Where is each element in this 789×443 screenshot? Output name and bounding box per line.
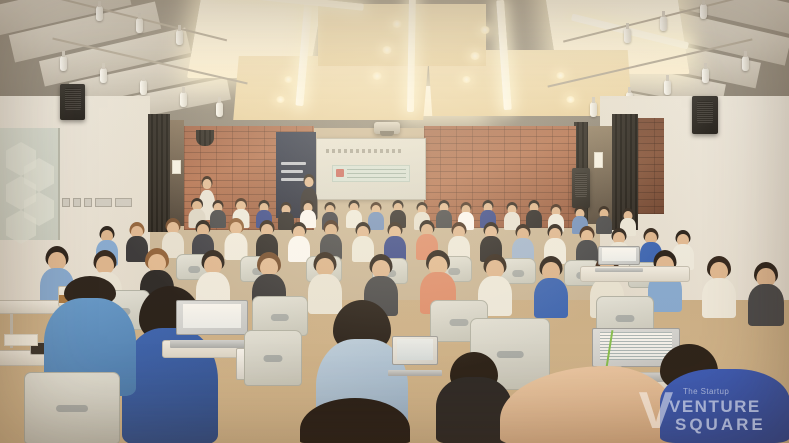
wall-switch-plate[interactable] (62, 198, 132, 207)
attendee (534, 256, 568, 318)
downlight (392, 20, 402, 28)
slide-icon (336, 169, 344, 177)
track-spotlight (590, 102, 597, 117)
attendee (748, 262, 784, 326)
laptop-lid (392, 336, 438, 365)
slide-text-lines (347, 169, 406, 178)
track-spotlight (660, 16, 667, 31)
slide-headline (326, 149, 404, 153)
outlet[interactable] (115, 198, 132, 207)
laptop-lid (176, 300, 248, 335)
track-spotlight (664, 80, 671, 95)
laptop-screen (183, 304, 242, 329)
slatted-partition-left (148, 114, 170, 232)
laptop-foreground-center[interactable] (392, 336, 438, 376)
downlight (284, 76, 293, 83)
laptop-base[interactable] (170, 340, 254, 348)
laptop-screen (602, 248, 636, 261)
downlight (372, 72, 382, 80)
switch[interactable] (73, 198, 81, 207)
track-spotlight (624, 28, 631, 43)
downlight (480, 26, 490, 34)
track-spotlight (180, 92, 187, 107)
attendee (702, 256, 736, 318)
track-spotlight (176, 30, 183, 45)
laptop-lid (598, 246, 640, 265)
frosted-glass-panel (0, 128, 60, 240)
downlight (462, 76, 471, 83)
conference-hall-photo: V The Startup VENTURE SQUARE (0, 0, 789, 443)
attendee (288, 222, 310, 262)
notebook (4, 334, 38, 346)
track-spotlight (136, 18, 143, 33)
track-spotlight (60, 56, 67, 71)
chair-foreground-left (24, 372, 120, 443)
downlight (470, 52, 480, 60)
downlight (566, 96, 575, 103)
av-rack (572, 168, 590, 208)
laptop-base[interactable] (388, 370, 441, 376)
downlight (556, 72, 565, 79)
outlet[interactable] (95, 198, 112, 207)
laptop-midground-right (598, 246, 640, 272)
brick-wall-far-right (638, 118, 664, 214)
projection-screen (316, 138, 426, 200)
wall-speaker-left (60, 84, 85, 120)
laptop-base (595, 268, 644, 272)
track-spotlight (742, 56, 749, 71)
track-spotlight (702, 68, 709, 83)
downlight (382, 46, 392, 54)
wall-speaker-right (692, 96, 718, 134)
track-spotlight (96, 6, 103, 21)
track-spotlight (100, 68, 107, 83)
attendee-foreground-royalblue (660, 344, 789, 443)
slide-content-box (332, 165, 410, 182)
downlight (276, 96, 285, 103)
switch[interactable] (84, 198, 92, 207)
laptop-foreground-left[interactable] (176, 300, 248, 348)
notice-paper (594, 152, 603, 168)
switch[interactable] (62, 198, 70, 207)
projector (374, 122, 400, 134)
attendee-foreground-darkhair (300, 398, 410, 443)
track-spotlight (700, 4, 707, 19)
chair-foreground-center (244, 330, 302, 386)
track-spotlight (216, 102, 223, 117)
attendee-foreground-skin (500, 366, 678, 443)
laptop-screen (397, 339, 434, 359)
notice-paper (172, 160, 181, 174)
track-spotlight (140, 80, 147, 95)
